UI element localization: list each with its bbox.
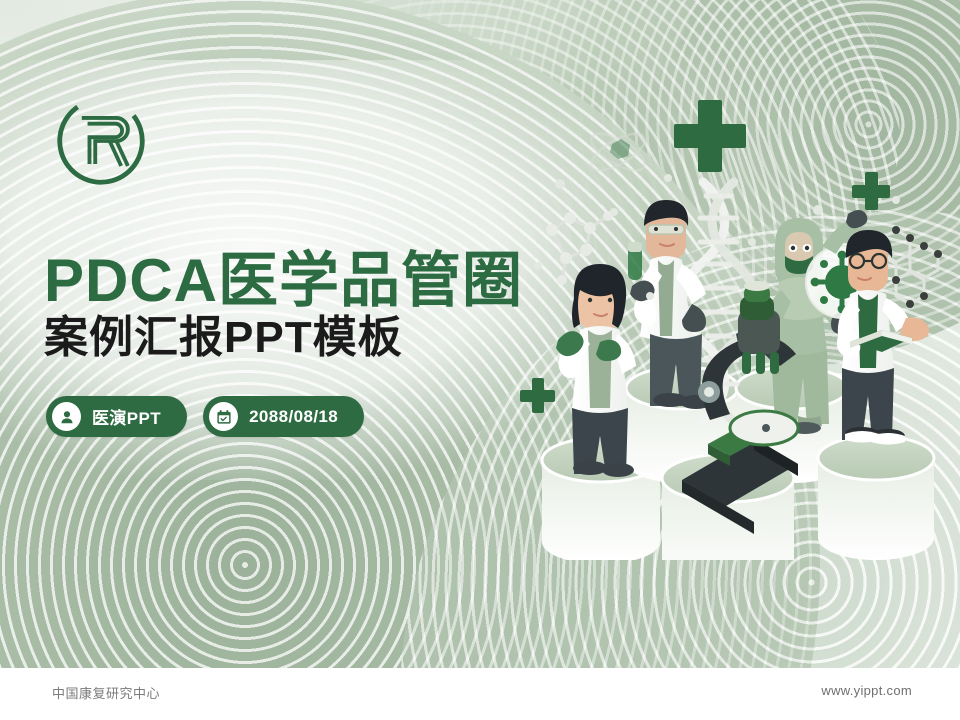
- date-badge[interactable]: 2088/08/18: [203, 396, 364, 437]
- presentation-slide: PDCA医学品管圈 案例汇报PPT模板 医演PPT: [0, 0, 960, 720]
- date-badge-label: 2088/08/18: [249, 407, 338, 427]
- crrc-logo-icon: [53, 93, 149, 189]
- footer-organization: 中国康复研究中心: [52, 683, 160, 702]
- author-badge-label: 医演PPT: [92, 404, 161, 429]
- page-title: PDCA医学品管圈: [44, 251, 523, 311]
- slide-footer: 中国康复研究中心 www.yippt.com: [0, 668, 960, 720]
- calendar-icon: [209, 402, 238, 431]
- user-icon: [52, 402, 81, 431]
- meta-badge-row: 医演PPT 2088/08/18: [46, 396, 364, 437]
- atom-icon: [586, 127, 650, 178]
- page-subtitle: 案例汇报PPT模板: [44, 316, 403, 360]
- crrc-logo: [53, 93, 149, 189]
- male-scientist-with-book: [837, 230, 929, 445]
- footer-website: www.yippt.com: [821, 683, 912, 698]
- medical-research-illustration: [500, 60, 960, 560]
- author-badge[interactable]: 医演PPT: [46, 396, 187, 437]
- medical-cross-small: [852, 172, 890, 210]
- medical-cross-large: [674, 100, 746, 172]
- medical-cross-left: [520, 378, 555, 413]
